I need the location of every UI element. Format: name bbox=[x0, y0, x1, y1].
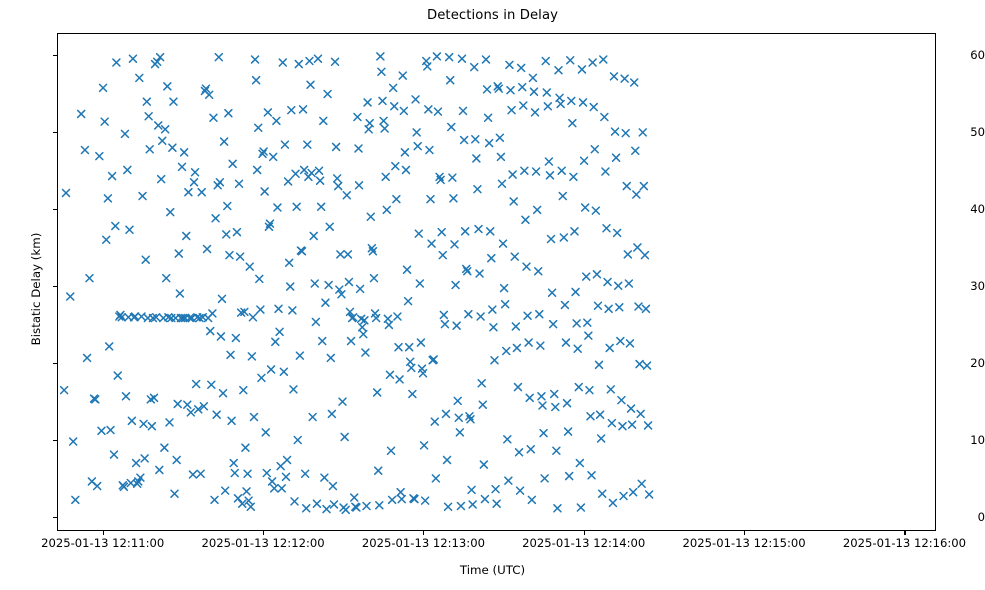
scatter-marker bbox=[301, 166, 308, 173]
scatter-marker bbox=[621, 75, 628, 82]
scatter-marker bbox=[408, 364, 415, 371]
scatter-marker bbox=[250, 414, 257, 421]
scatter-marker bbox=[575, 384, 582, 391]
scatter-marker bbox=[645, 422, 652, 429]
scatter-marker bbox=[642, 305, 649, 312]
scatter-marker bbox=[473, 155, 480, 162]
scatter-marker bbox=[586, 387, 593, 394]
scatter-marker bbox=[306, 58, 313, 65]
scatter-marker bbox=[220, 390, 227, 397]
scatter-marker bbox=[190, 179, 197, 186]
scatter-marker bbox=[84, 354, 91, 361]
scatter-marker bbox=[123, 393, 130, 400]
scatter-marker bbox=[471, 64, 478, 71]
scatter-marker bbox=[597, 411, 604, 418]
scatter-marker bbox=[592, 207, 599, 214]
scatter-marker bbox=[487, 228, 494, 235]
scatter-marker bbox=[313, 500, 320, 507]
scatter-marker bbox=[128, 417, 135, 424]
scatter-marker bbox=[232, 334, 239, 341]
scatter-marker bbox=[272, 338, 279, 345]
scatter-marker bbox=[610, 73, 617, 80]
scatter-marker bbox=[230, 460, 237, 467]
scatter-marker bbox=[629, 421, 636, 428]
scatter-marker bbox=[587, 413, 594, 420]
scatter-marker bbox=[252, 56, 259, 63]
scatter-marker bbox=[438, 229, 445, 236]
scatter-marker bbox=[513, 344, 520, 351]
scatter-marker bbox=[295, 61, 302, 68]
scatter-marker bbox=[192, 169, 199, 176]
scatter-marker bbox=[422, 497, 429, 504]
scatter-marker bbox=[67, 293, 74, 300]
scatter-marker bbox=[492, 486, 499, 493]
scatter-marker bbox=[323, 506, 330, 513]
scatter-marker bbox=[390, 84, 397, 91]
scatter-marker bbox=[281, 141, 288, 148]
x-tick-label: 2025-01-13 12:16:00 bbox=[843, 536, 966, 550]
scatter-marker bbox=[167, 209, 174, 216]
scatter-marker bbox=[229, 160, 236, 167]
scatter-marker bbox=[72, 496, 79, 503]
scatter-marker bbox=[141, 455, 148, 462]
plot-area bbox=[57, 33, 936, 531]
scatter-marker bbox=[294, 437, 301, 444]
scatter-marker bbox=[303, 505, 310, 512]
scatter-marker bbox=[573, 320, 580, 327]
scatter-marker bbox=[271, 485, 278, 492]
scatter-marker bbox=[396, 376, 403, 383]
scatter-marker bbox=[98, 427, 105, 434]
scatter-marker bbox=[310, 232, 317, 239]
scatter-marker bbox=[284, 456, 291, 463]
scatter-marker bbox=[330, 501, 337, 508]
scatter-marker bbox=[385, 321, 392, 328]
scatter-marker bbox=[367, 213, 374, 220]
scatter-marker bbox=[226, 252, 233, 259]
scatter-marker bbox=[632, 147, 639, 154]
scatter-marker bbox=[399, 72, 406, 79]
scatter-marker bbox=[612, 128, 619, 135]
scatter-marker bbox=[614, 229, 621, 236]
scatter-marker bbox=[145, 113, 152, 120]
scatter-marker bbox=[197, 470, 204, 477]
scatter-marker bbox=[178, 163, 185, 170]
scatter-marker bbox=[541, 475, 548, 482]
scatter-marker bbox=[598, 435, 605, 442]
scatter-marker bbox=[405, 298, 412, 305]
scatter-marker bbox=[221, 138, 228, 145]
scatter-marker bbox=[268, 366, 275, 373]
scatter-marker bbox=[415, 230, 422, 237]
scatter-marker bbox=[395, 344, 402, 351]
scatter-marker bbox=[375, 467, 382, 474]
scatter-marker bbox=[156, 466, 163, 473]
scatter-marker bbox=[618, 397, 625, 404]
scatter-marker bbox=[536, 311, 543, 318]
scatter-marker bbox=[322, 299, 329, 306]
scatter-marker bbox=[193, 381, 200, 388]
scatter-marker bbox=[576, 460, 583, 467]
scatter-marker bbox=[433, 53, 440, 60]
scatter-marker bbox=[594, 302, 601, 309]
x-tick-label: 2025-01-13 12:15:00 bbox=[683, 536, 806, 550]
scatter-marker bbox=[601, 114, 608, 121]
scatter-marker bbox=[460, 107, 467, 114]
scatter-marker bbox=[511, 253, 518, 260]
scatter-marker bbox=[351, 494, 358, 501]
x-tick-mark bbox=[423, 531, 424, 535]
scatter-marker bbox=[517, 487, 524, 494]
scatter-marker bbox=[402, 166, 409, 173]
scatter-marker bbox=[543, 89, 550, 96]
scatter-marker bbox=[243, 488, 250, 495]
scatter-marker bbox=[382, 173, 389, 180]
scatter-marker bbox=[448, 123, 455, 130]
scatter-marker bbox=[173, 456, 180, 463]
scatter-marker bbox=[233, 229, 240, 236]
scatter-marker bbox=[551, 390, 558, 397]
scatter-marker bbox=[428, 240, 435, 247]
scatter-marker bbox=[96, 153, 103, 160]
x-axis-label: Time (UTC) bbox=[0, 563, 985, 577]
scatter-marker bbox=[345, 278, 352, 285]
scatter-marker bbox=[465, 311, 472, 318]
scatter-marker bbox=[319, 338, 326, 345]
scatter-marker bbox=[228, 417, 235, 424]
scatter-marker bbox=[475, 226, 482, 233]
scatter-marker bbox=[103, 236, 110, 243]
scatter-marker bbox=[637, 410, 644, 417]
scatter-marker bbox=[518, 64, 525, 71]
scatter-marker bbox=[171, 490, 178, 497]
scatter-marker bbox=[482, 56, 489, 63]
scatter-marker bbox=[255, 124, 262, 131]
scatter-marker bbox=[381, 125, 388, 132]
scatter-marker bbox=[591, 146, 598, 153]
scatter-marker bbox=[624, 251, 631, 258]
scatter-marker bbox=[242, 444, 249, 451]
scatter-marker bbox=[215, 54, 222, 61]
scatter-marker bbox=[234, 495, 241, 502]
scatter-marker bbox=[506, 61, 513, 68]
scatter-marker bbox=[264, 109, 271, 116]
scatter-marker bbox=[542, 58, 549, 65]
scatter-marker bbox=[86, 275, 93, 282]
scatter-marker bbox=[104, 195, 111, 202]
scatter-marker bbox=[360, 331, 367, 338]
scatter-marker bbox=[526, 394, 533, 401]
scatter-marker bbox=[457, 503, 464, 510]
scatter-marker bbox=[613, 154, 620, 161]
scatter-marker bbox=[187, 409, 194, 416]
scatter-marker bbox=[362, 349, 369, 356]
scatter-marker bbox=[622, 130, 629, 137]
scatter-marker bbox=[633, 191, 640, 198]
scatter-marker bbox=[225, 110, 232, 117]
scatter-marker bbox=[287, 283, 294, 290]
scatter-marker bbox=[81, 147, 88, 154]
scatter-marker bbox=[143, 98, 150, 105]
scatter-marker bbox=[256, 275, 263, 282]
scatter-marker bbox=[537, 342, 544, 349]
scatter-marker bbox=[212, 215, 219, 222]
scatter-marker bbox=[292, 170, 299, 177]
scatter-marker bbox=[329, 483, 336, 490]
scatter-marker bbox=[452, 282, 459, 289]
scatter-marker bbox=[291, 498, 298, 505]
scatter-marker bbox=[538, 393, 545, 400]
scatter-marker bbox=[113, 59, 120, 66]
scatter-marker bbox=[286, 259, 293, 266]
x-tick-label: 2025-01-13 12:13:00 bbox=[362, 536, 485, 550]
scatter-marker bbox=[279, 59, 286, 66]
scatter-marker bbox=[363, 503, 370, 510]
scatter-marker bbox=[640, 183, 647, 190]
scatter-marker bbox=[523, 263, 530, 270]
scatter-marker bbox=[308, 170, 315, 177]
x-tick-mark bbox=[103, 531, 104, 535]
scatter-marker bbox=[356, 182, 363, 189]
scatter-marker bbox=[626, 340, 633, 347]
scatter-marker bbox=[393, 196, 400, 203]
scatter-marker bbox=[258, 374, 265, 381]
scatter-marker bbox=[580, 99, 587, 106]
scatter-marker bbox=[409, 390, 416, 397]
scatter-marker bbox=[174, 400, 181, 407]
scatter-marker bbox=[121, 130, 128, 137]
x-tick-mark bbox=[904, 531, 905, 535]
scatter-marker bbox=[398, 496, 405, 503]
scatter-marker bbox=[555, 67, 562, 74]
scatter-marker bbox=[332, 58, 339, 65]
scatter-marker bbox=[481, 496, 488, 503]
x-tick-label: 2025-01-13 12:14:00 bbox=[522, 536, 645, 550]
scatter-marker bbox=[373, 315, 380, 322]
scatter-marker bbox=[639, 129, 646, 136]
x-tick-mark bbox=[744, 531, 745, 535]
scatter-marker bbox=[262, 429, 269, 436]
scatter-marker bbox=[559, 193, 566, 200]
scatter-marker bbox=[585, 332, 592, 339]
scatter-marker bbox=[635, 303, 642, 310]
scatter-marker bbox=[484, 86, 491, 93]
scatter-marker bbox=[391, 103, 398, 110]
scatter-marker bbox=[282, 473, 289, 480]
y-axis-label: Bistatic Delay (km) bbox=[29, 189, 43, 389]
scatter-marker bbox=[392, 163, 399, 170]
scatter-marker bbox=[574, 345, 581, 352]
scatter-marker bbox=[447, 77, 454, 84]
scatter-points bbox=[58, 34, 935, 530]
scatter-marker bbox=[461, 137, 468, 144]
scatter-marker bbox=[184, 401, 191, 408]
scatter-marker bbox=[289, 307, 296, 314]
scatter-marker bbox=[326, 223, 333, 230]
scatter-marker bbox=[449, 174, 456, 181]
scatter-marker bbox=[589, 59, 596, 66]
scatter-marker bbox=[208, 381, 215, 388]
scatter-marker bbox=[304, 141, 311, 148]
scatter-marker bbox=[474, 186, 481, 193]
scatter-marker bbox=[491, 357, 498, 364]
scatter-marker bbox=[539, 402, 546, 409]
scatter-marker bbox=[325, 282, 332, 289]
scatter-marker bbox=[253, 77, 260, 84]
scatter-marker bbox=[593, 271, 600, 278]
scatter-marker bbox=[273, 117, 280, 124]
scatter-marker bbox=[114, 372, 121, 379]
scatter-marker bbox=[355, 145, 362, 152]
scatter-marker bbox=[479, 401, 486, 408]
scatter-marker bbox=[570, 173, 577, 180]
scatter-marker bbox=[548, 236, 555, 243]
x-tick-label: 2025-01-13 12:12:00 bbox=[201, 536, 324, 550]
scatter-marker bbox=[596, 361, 603, 368]
scatter-marker bbox=[416, 280, 423, 287]
scatter-marker bbox=[413, 129, 420, 136]
page-title: Detections in Delay bbox=[0, 8, 985, 23]
scatter-marker bbox=[189, 471, 196, 478]
scatter-marker bbox=[496, 134, 503, 141]
scatter-marker bbox=[504, 436, 511, 443]
scatter-marker bbox=[441, 321, 448, 328]
scatter-marker bbox=[236, 180, 243, 187]
y-tick-label: 30 bbox=[939, 279, 985, 293]
scatter-marker bbox=[248, 353, 255, 360]
x-tick-mark bbox=[584, 531, 585, 535]
scatter-marker bbox=[508, 107, 515, 114]
scatter-marker bbox=[397, 489, 404, 496]
scatter-marker bbox=[493, 500, 500, 507]
scatter-marker bbox=[451, 241, 458, 248]
scatter-marker bbox=[312, 318, 319, 325]
scatter-marker bbox=[377, 53, 384, 60]
scatter-marker bbox=[578, 66, 585, 73]
scatter-marker bbox=[569, 120, 576, 127]
scatter-marker bbox=[185, 189, 192, 196]
scatter-marker bbox=[288, 107, 295, 114]
scatter-marker bbox=[222, 487, 229, 494]
scatter-marker bbox=[223, 231, 230, 238]
scatter-marker bbox=[521, 167, 528, 174]
scatter-marker bbox=[605, 305, 612, 312]
scatter-marker bbox=[577, 504, 584, 511]
scatter-marker bbox=[63, 189, 70, 196]
scatter-marker bbox=[162, 126, 169, 133]
scatter-marker bbox=[488, 255, 495, 262]
scatter-marker bbox=[341, 433, 348, 440]
scatter-marker bbox=[544, 103, 551, 110]
scatter-marker bbox=[527, 446, 534, 453]
scatter-marker bbox=[240, 387, 247, 394]
scatter-marker bbox=[564, 400, 571, 407]
scatter-marker bbox=[519, 84, 526, 91]
scatter-marker bbox=[204, 245, 211, 252]
scatter-marker bbox=[406, 344, 413, 351]
scatter-marker bbox=[615, 282, 622, 289]
scatter-marker bbox=[111, 451, 118, 458]
scatter-marker bbox=[603, 225, 610, 232]
scatter-marker bbox=[456, 429, 463, 436]
scatter-marker bbox=[209, 310, 216, 317]
scatter-marker bbox=[344, 251, 351, 258]
scatter-marker bbox=[420, 370, 427, 377]
scatter-marker bbox=[388, 447, 395, 454]
scatter-marker bbox=[124, 166, 131, 173]
scatter-marker bbox=[263, 470, 270, 477]
scatter-marker bbox=[379, 97, 386, 104]
scatter-marker bbox=[623, 183, 630, 190]
scatter-marker bbox=[164, 83, 171, 90]
scatter-marker bbox=[476, 270, 483, 277]
scatter-marker bbox=[107, 427, 114, 434]
scatter-marker bbox=[359, 324, 366, 331]
scatter-marker bbox=[534, 206, 541, 213]
scatter-marker bbox=[516, 449, 523, 456]
scatter-marker bbox=[211, 496, 218, 503]
scatter-marker bbox=[442, 410, 449, 417]
scatter-marker bbox=[550, 321, 557, 328]
scatter-marker bbox=[163, 275, 170, 282]
scatter-marker bbox=[275, 305, 282, 312]
scatter-marker bbox=[636, 361, 643, 368]
scatter-marker bbox=[558, 167, 565, 174]
scatter-marker bbox=[133, 460, 140, 467]
scatter-marker bbox=[318, 203, 325, 210]
scatter-marker bbox=[412, 96, 419, 103]
scatter-marker bbox=[644, 362, 651, 369]
scatter-marker bbox=[529, 74, 536, 81]
scatter-marker bbox=[210, 114, 217, 121]
scatter-marker bbox=[554, 505, 561, 512]
scatter-marker bbox=[468, 486, 475, 493]
scatter-marker bbox=[290, 386, 297, 393]
y-tick-label: 50 bbox=[939, 125, 985, 139]
scatter-marker bbox=[590, 104, 597, 111]
scatter-marker bbox=[533, 168, 540, 175]
scatter-marker bbox=[270, 153, 277, 160]
scatter-marker bbox=[309, 414, 316, 421]
scatter-marker bbox=[434, 108, 441, 115]
scatter-marker bbox=[500, 240, 507, 247]
scatter-marker bbox=[278, 485, 285, 492]
scatter-marker bbox=[446, 54, 453, 61]
matplotlib-figure: Detections in Delay 0102030405060 2025-0… bbox=[0, 0, 985, 590]
scatter-marker bbox=[514, 384, 521, 391]
scatter-marker bbox=[140, 420, 147, 427]
scatter-marker bbox=[503, 348, 510, 355]
scatter-marker bbox=[94, 483, 101, 490]
scatter-marker bbox=[561, 301, 568, 308]
y-tick-label: 20 bbox=[939, 356, 985, 370]
scatter-marker bbox=[61, 387, 68, 394]
scatter-marker bbox=[394, 313, 401, 320]
scatter-marker bbox=[426, 147, 433, 154]
scatter-marker bbox=[257, 306, 264, 313]
scatter-marker bbox=[581, 157, 588, 164]
scatter-marker bbox=[606, 344, 613, 351]
scatter-marker bbox=[498, 180, 505, 187]
scatter-marker bbox=[512, 323, 519, 330]
scatter-marker bbox=[311, 280, 318, 287]
scatter-marker bbox=[254, 166, 261, 173]
scatter-marker bbox=[213, 411, 220, 418]
scatter-marker bbox=[566, 473, 573, 480]
scatter-marker bbox=[169, 144, 176, 151]
scatter-marker bbox=[497, 153, 504, 160]
scatter-marker bbox=[207, 328, 214, 335]
